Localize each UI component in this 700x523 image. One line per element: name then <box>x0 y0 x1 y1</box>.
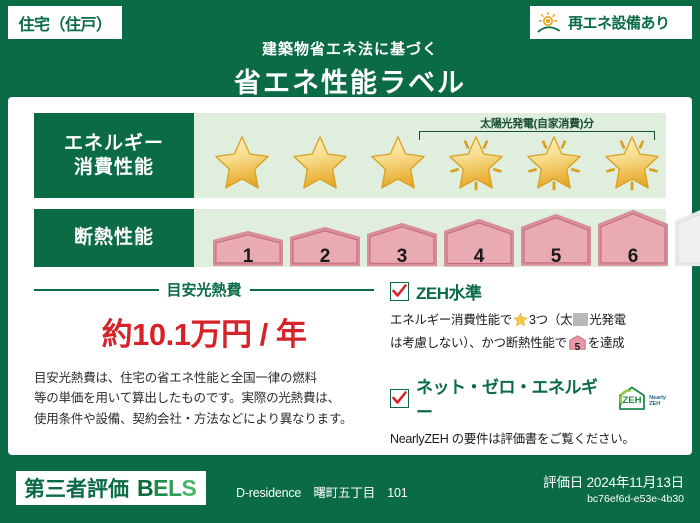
utility-cost-note: 目安光熱費は、住宅の省エネ性能と全国一律の燃料 等の単価を用いて算出したものです… <box>34 368 374 429</box>
title-subtitle: 建築物省エネ法に基づく <box>0 38 700 59</box>
star-solar <box>594 132 670 194</box>
star-rating <box>204 132 670 194</box>
inline-star-icon <box>513 312 528 333</box>
zeh-desc-part-b: 3つ（太 <box>529 313 572 327</box>
insulation-level-2: 2 <box>287 225 363 272</box>
utility-cost-value: 約10.1万円 / 年 <box>34 309 374 354</box>
zeh-logo: ZEH Nearly ZEH <box>616 385 666 412</box>
insulation-level-number: 6 <box>595 246 671 268</box>
svg-text:ZEH: ZEH <box>623 395 642 406</box>
energy-label-line2: 消費性能 <box>74 156 154 180</box>
utility-cost-heading: 目安光熱費 <box>34 279 374 300</box>
inline-house-badge: 5 <box>569 335 586 356</box>
insulation-level-4: 4 <box>441 217 517 273</box>
page-title: 省エネ性能ラベル <box>0 61 700 100</box>
main-white-panel: エネルギー 消費性能 太陽光発電(自家消費)分 <box>8 97 692 455</box>
star-filled <box>360 132 436 194</box>
cost-note-line-1: 目安光熱費は、住宅の省エネ性能と全国一律の燃料 <box>34 368 374 388</box>
insulation-level-scale: 1 2 3 4 5 6 7 <box>210 204 700 272</box>
heading-rule-left <box>34 289 159 291</box>
insulation-level-number: 5 <box>518 246 594 268</box>
bels-letter-l: L <box>168 475 182 501</box>
bels-certification-plate: 第三者評価 BELS <box>16 471 206 505</box>
solar-bracket-label: 太陽光発電(自家消費)分 <box>417 115 657 131</box>
energy-stars-area: 太陽光発電(自家消費)分 <box>194 113 666 198</box>
utility-cost-heading-text: 目安光熱費 <box>167 279 242 300</box>
zeh-logo-sub-zeh: ZEH <box>649 402 666 408</box>
property-name: D-residence 曙町五丁目 101 <box>236 482 408 501</box>
star-filled <box>282 132 358 194</box>
zeh-desc-line2-a: は考慮しない）、かつ断熱性能で <box>390 336 567 350</box>
evaluation-info: 評価日 2024年11月13日 bc76ef6d-e53e-4b30 <box>543 471 684 505</box>
cost-note-line-2: 等の単価を用いて算出したものです。実際の光熱費は、 <box>34 388 374 408</box>
renewable-badge-label: 再エネ設備あり <box>568 12 670 33</box>
energy-performance-row: エネルギー 消費性能 太陽光発電(自家消費)分 <box>34 113 666 198</box>
insulation-level-3: 3 <box>364 221 440 272</box>
bels-letter-s: S <box>182 475 197 501</box>
insulation-level-number: 3 <box>364 246 440 268</box>
sun-solar-icon <box>536 11 562 35</box>
net-zero-energy-title: ネット・ゼロ・エネルギー <box>416 373 609 423</box>
redaction-block <box>573 313 588 326</box>
zeh-standard-item: ZEH水準 エネルギー消費性能で 3つ（太光発電 は考慮しない）、かつ断熱性能で… <box>390 279 666 356</box>
insulation-level-number: 2 <box>287 246 363 268</box>
insulation-level-1: 1 <box>210 229 286 272</box>
insulation-performance-label-box: 断熱性能 <box>34 209 194 267</box>
zeh-desc-part-c: 光発電 <box>589 313 626 327</box>
insulation-level-number: 1 <box>210 246 286 268</box>
energy-label-line1: エネルギー <box>64 132 164 156</box>
net-zero-energy-header: ネット・ゼロ・エネルギー ZEH Nearly ZEH <box>390 373 666 423</box>
insulation-performance-row: 断熱性能 1 2 3 4 5 6 7 <box>34 209 666 267</box>
bels-letter-e: E <box>153 475 168 501</box>
energy-performance-label-box: エネルギー 消費性能 <box>34 113 194 198</box>
zeh-desc-line2-b: を達成 <box>588 336 625 350</box>
star-solar <box>438 132 514 194</box>
star-filled <box>204 132 280 194</box>
insulation-level-5: 5 <box>518 212 594 272</box>
third-party-eval-label: 第三者評価 <box>24 473 129 503</box>
bels-letter-b: B <box>137 475 153 501</box>
heading-rule-right <box>250 289 375 291</box>
insulation-level-number: 4 <box>441 246 517 268</box>
insulation-scale-area: 1 2 3 4 5 6 7 <box>194 209 666 267</box>
zeh-desc-part-a: エネルギー消費性能で <box>390 313 512 327</box>
renewable-energy-badge: 再エネ設備あり <box>530 6 692 39</box>
insulation-level-7: 7 <box>672 204 700 272</box>
checkbox-checked-zeh-standard <box>390 282 409 301</box>
check-icon <box>392 284 407 299</box>
energy-performance-label: 住宅（住戸） 再エネ設備あり 建築物省エネ法に基づく 省エネ性能ラベル エネルギ… <box>0 0 700 523</box>
insulation-level-6: 6 <box>595 208 671 272</box>
net-zero-energy-description: NearlyZEH の要件は評価書をご覧ください。 <box>390 429 666 449</box>
zeh-standard-description: エネルギー消費性能で 3つ（太光発電 は考慮しない）、かつ断熱性能で 5 を達成 <box>390 310 666 356</box>
inline-house-number: 5 <box>569 340 586 356</box>
star-solar <box>516 132 592 194</box>
insulation-level-number: 7 <box>672 246 700 268</box>
zeh-standard-header: ZEH水準 <box>390 279 666 304</box>
zeh-standard-title: ZEH水準 <box>416 279 482 304</box>
check-icon <box>392 391 407 406</box>
checkbox-checked-net-zero <box>390 389 409 408</box>
housing-type-tag: 住宅（住戸） <box>8 6 122 39</box>
zeh-block: ZEH水準 エネルギー消費性能で 3つ（太光発電 は考慮しない）、かつ断熱性能で… <box>390 279 666 449</box>
footer: 第三者評価 BELS D-residence 曙町五丁目 101 評価日 202… <box>0 463 700 523</box>
net-zero-energy-item: ネット・ゼロ・エネルギー ZEH Nearly ZEH NearlyZEH <box>390 373 666 449</box>
bels-logo: BELS <box>137 475 196 502</box>
evaluation-code: bc76ef6d-e53e-4b30 <box>543 493 684 505</box>
utility-cost-block: 目安光熱費 約10.1万円 / 年 目安光熱費は、住宅の省エネ性能と全国一律の燃… <box>34 279 374 429</box>
cost-note-line-3: 使用条件や設備、契約会社・方法などにより異なります。 <box>34 409 374 429</box>
label-title-block: 建築物省エネ法に基づく 省エネ性能ラベル <box>0 38 700 100</box>
evaluation-date: 評価日 2024年11月13日 <box>543 471 684 491</box>
